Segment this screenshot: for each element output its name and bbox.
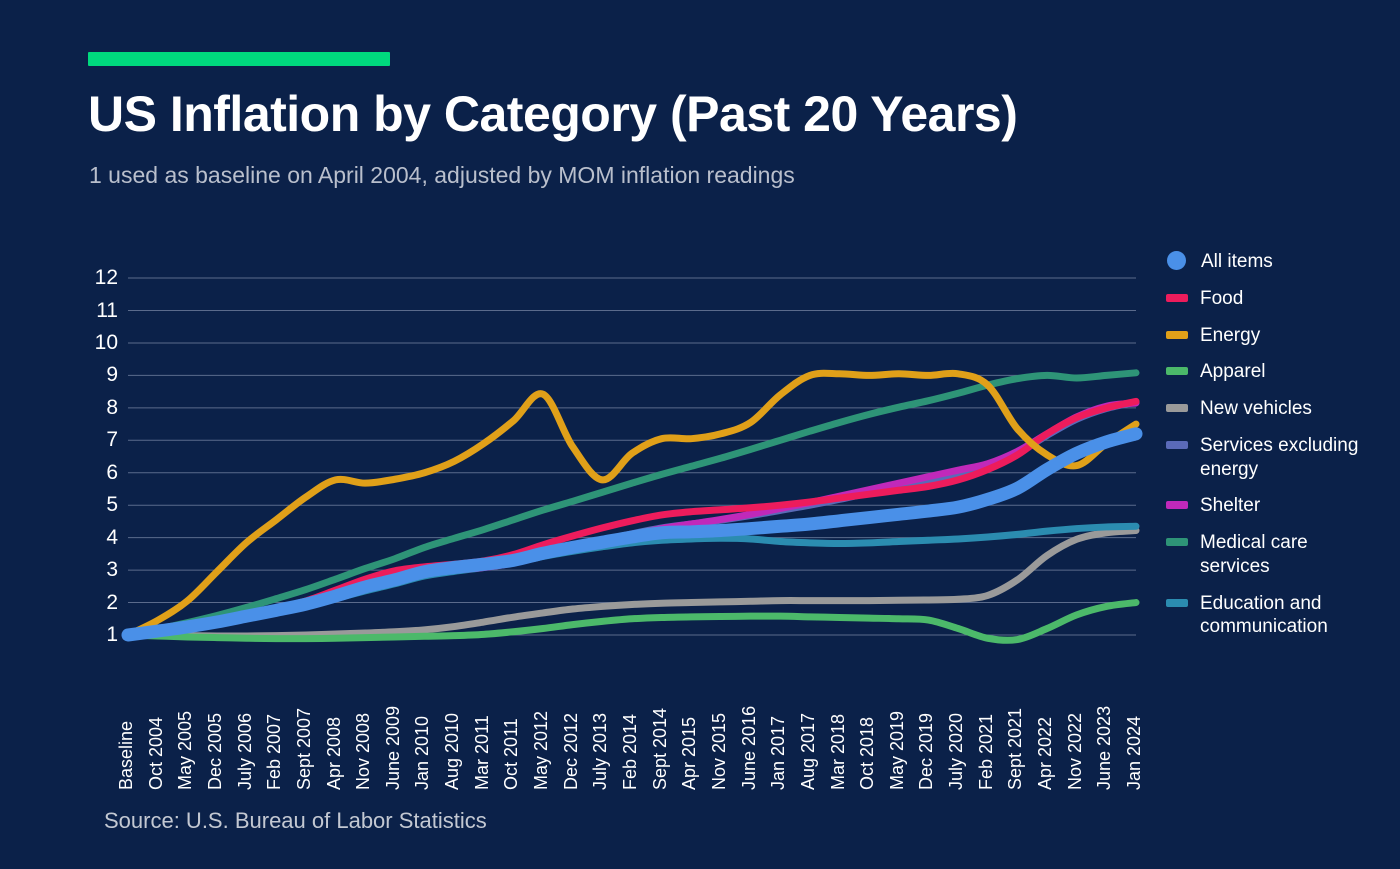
x-tick-label: Sept 2014: [651, 708, 669, 790]
legend-item-label: Education and communication: [1200, 592, 1380, 640]
x-tick-label: July 2006: [236, 713, 254, 790]
x-tick-label: Dec 2019: [917, 713, 935, 790]
legend-swatch-icon: [1166, 294, 1188, 302]
x-tick-label: June 2023: [1095, 706, 1113, 790]
y-tick-label: 1: [78, 623, 118, 647]
x-axis: BaselineOct 2004May 2005Dec 2005July 200…: [128, 660, 1136, 790]
x-tick-label: Jan 2010: [413, 716, 431, 790]
legend-swatch-icon: [1166, 331, 1188, 339]
x-tick-label: Aug 2017: [799, 713, 817, 790]
x-tick-label: Jan 2017: [769, 716, 787, 790]
x-tick-label: Dec 2012: [562, 713, 580, 790]
legend-item-label: Energy: [1200, 324, 1260, 348]
y-tick-label: 3: [78, 558, 118, 582]
legend-item-label: Shelter: [1200, 494, 1260, 518]
x-tick-label: June 2016: [740, 706, 758, 790]
x-tick-label: Mar 2011: [473, 715, 491, 790]
legend-swatch-icon: [1166, 538, 1188, 546]
y-tick-label: 8: [78, 396, 118, 420]
legend-swatch-icon: [1166, 599, 1188, 607]
x-tick-label: Dec 2005: [206, 713, 224, 790]
x-tick-label: Apr 2015: [680, 717, 698, 790]
legend-item[interactable]: Energy: [1166, 324, 1394, 348]
legend-item[interactable]: Services excluding energy: [1166, 434, 1394, 482]
legend-swatch-icon: [1167, 251, 1186, 270]
x-tick-label: Feb 2014: [621, 714, 639, 790]
x-tick-label: May 2005: [176, 711, 194, 790]
x-tick-label: Apr 2008: [325, 717, 343, 790]
x-tick-label: Apr 2022: [1036, 717, 1054, 790]
y-tick-label: 4: [78, 526, 118, 550]
x-tick-label: May 2019: [888, 711, 906, 790]
legend-item[interactable]: New vehicles: [1166, 397, 1394, 421]
legend-swatch-icon: [1166, 501, 1188, 509]
x-tick-label: Nov 2015: [710, 713, 728, 790]
x-tick-label: June 2009: [384, 706, 402, 790]
legend-swatch-icon: [1166, 441, 1188, 449]
y-tick-label: 10: [78, 331, 118, 355]
y-axis: 123456789101112: [78, 0, 118, 869]
x-tick-label: Baseline: [117, 721, 135, 790]
legend-swatch-icon: [1166, 404, 1188, 412]
x-tick-label: Jan 2024: [1125, 716, 1143, 790]
x-tick-label: Nov 2022: [1066, 713, 1084, 790]
legend-item[interactable]: Education and communication: [1166, 592, 1394, 640]
y-tick-label: 5: [78, 493, 118, 517]
legend-item-label: Services excluding energy: [1200, 434, 1380, 482]
x-tick-label: Feb 2007: [265, 714, 283, 790]
y-tick-label: 11: [78, 299, 118, 323]
chart-legend: All itemsFoodEnergyApparelNew vehiclesSe…: [1166, 250, 1394, 652]
legend-item-label: Apparel: [1200, 360, 1266, 384]
x-tick-label: July 2020: [947, 713, 965, 790]
legend-item-label: All items: [1201, 250, 1273, 274]
legend-item-label: Food: [1200, 287, 1243, 311]
x-tick-label: May 2012: [532, 711, 550, 790]
x-tick-label: Aug 2010: [443, 713, 461, 790]
x-tick-label: Nov 2008: [354, 713, 372, 790]
y-tick-label: 7: [78, 428, 118, 452]
y-tick-label: 6: [78, 461, 118, 485]
x-tick-label: Sept 2007: [295, 708, 313, 790]
source-note: Source: U.S. Bureau of Labor Statistics: [104, 808, 487, 834]
y-tick-label: 9: [78, 363, 118, 387]
legend-item[interactable]: Medical care services: [1166, 531, 1394, 579]
x-tick-label: Sept 2021: [1006, 708, 1024, 790]
legend-item[interactable]: All items: [1166, 250, 1394, 274]
series-paths: [128, 373, 1136, 641]
legend-item[interactable]: Apparel: [1166, 360, 1394, 384]
x-tick-label: Oct 2018: [858, 717, 876, 790]
slide-root: US Inflation by Category (Past 20 Years)…: [0, 0, 1400, 869]
x-tick-label: Oct 2011: [502, 718, 520, 790]
x-tick-label: Mar 2018: [829, 714, 847, 790]
legend-item-label: New vehicles: [1200, 397, 1312, 421]
x-tick-label: Oct 2004: [147, 717, 165, 790]
legend-item[interactable]: Food: [1166, 287, 1394, 311]
legend-item[interactable]: Shelter: [1166, 494, 1394, 518]
legend-item-label: Medical care services: [1200, 531, 1380, 579]
x-tick-label: Feb 2021: [977, 714, 995, 790]
legend-swatch-icon: [1166, 367, 1188, 375]
x-tick-label: July 2013: [591, 713, 609, 790]
y-tick-label: 12: [78, 266, 118, 290]
y-tick-label: 2: [78, 591, 118, 615]
